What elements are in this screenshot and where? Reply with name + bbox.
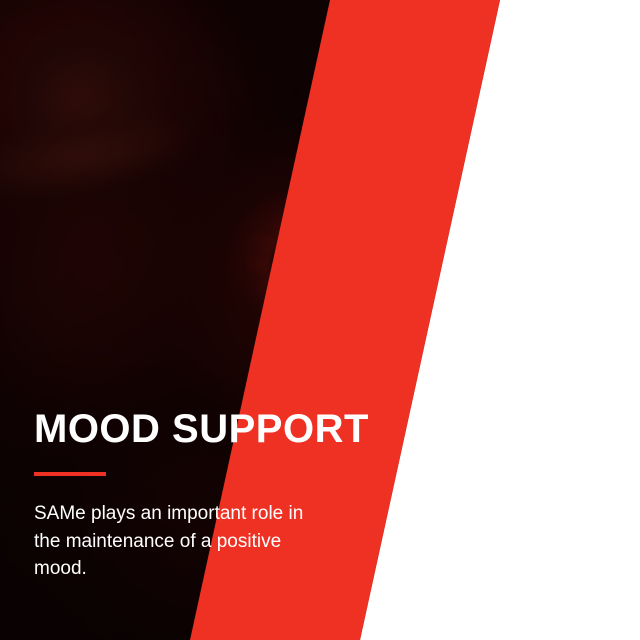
text-block: MOOD SUPPORT SAMe plays an important rol… [34,408,414,583]
headline: MOOD SUPPORT [34,408,414,450]
banner-canvas: MOOD SUPPORT SAMe plays an important rol… [0,0,640,640]
body-copy: SAMe plays an important role in the main… [34,500,334,583]
accent-rule [34,472,106,476]
